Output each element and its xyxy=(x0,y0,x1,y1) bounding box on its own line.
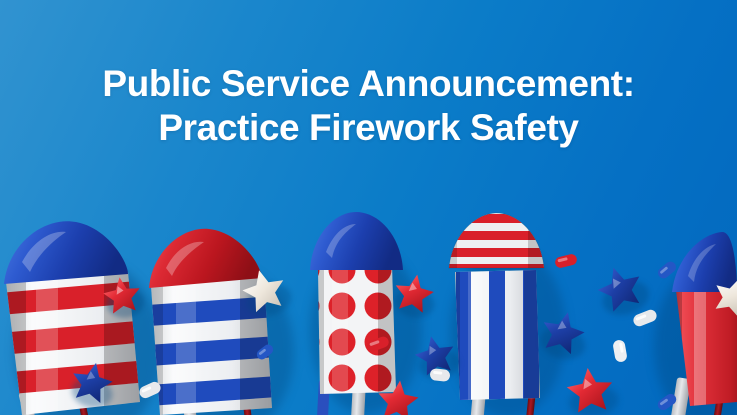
star-navy-right xyxy=(593,260,654,321)
confetti-blue-pill-right xyxy=(656,259,678,280)
psa-banner: Public Service Announcement: Practice Fi… xyxy=(0,0,737,415)
rocket-3-cone xyxy=(310,212,403,270)
confetti-white-pill-lower xyxy=(612,339,628,363)
rocket-polka-dot xyxy=(310,212,404,400)
rocket-1-cone xyxy=(4,221,128,284)
rocket-5-cone xyxy=(672,232,737,292)
rocket-vertical-stripes xyxy=(440,205,554,404)
rocket-2-cone xyxy=(149,229,262,288)
star-red-right-lower xyxy=(565,365,620,415)
confetti-red-pill-center xyxy=(554,253,578,269)
scene-svg xyxy=(0,0,737,415)
firework-rockets-scene xyxy=(0,0,737,415)
